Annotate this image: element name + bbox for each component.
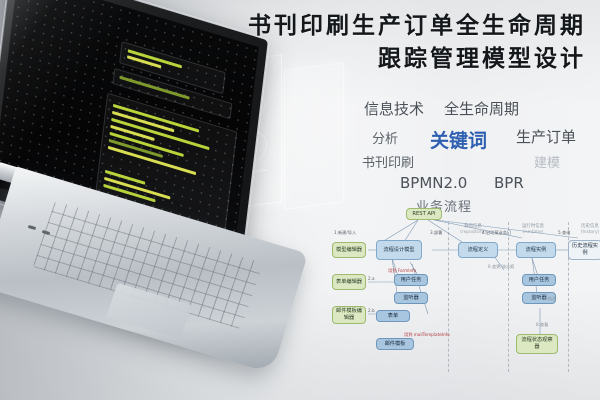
page-title: 书刊印刷生产订单全生命周期 跟踪管理模型设计 <box>248 10 586 75</box>
cloud-term-bpmn: BPMN2.0 <box>400 174 467 192</box>
edge-label-6: 6.变更/流水痕 <box>488 264 514 270</box>
edge-label-5: 5.查询 <box>558 230 570 236</box>
node-history-process-instance[interactable]: 历史流程实例 <box>568 240 600 260</box>
edge-label-3: 3.部署 <box>430 230 442 236</box>
node-form-editor[interactable]: 表单编辑器 <box>332 274 366 290</box>
node-mail-template-editor[interactable]: 邮件模板编辑器 <box>332 306 366 324</box>
node-rest-api[interactable]: REST API <box>406 208 442 220</box>
cloud-term-xinxijishu: 信息技术 <box>364 98 424 119</box>
cloud-term-keyword: 关键词 <box>430 126 487 153</box>
node-user-task-runtime[interactable]: 用户任务 <box>522 274 556 286</box>
bpm-architecture-diagram: 业务流程 静态信息 (repository) 运行时信息 (runtime) 历… <box>332 196 600 376</box>
edge-label-8: 8.查看 <box>536 322 548 328</box>
node-process-design-model[interactable]: 流程设计模型 <box>376 240 422 260</box>
cloud-term-fenxi: 分析 <box>372 128 398 147</box>
diagram-connectors <box>332 196 600 376</box>
edge-label-2a: 2.a <box>368 276 375 281</box>
edge-label-4: 4.启动某业务门 <box>482 230 511 236</box>
title-line-1: 书刊印刷生产订单全生命周期 <box>248 10 586 43</box>
cloud-term-quanshengmingzhouqi: 全生命周期 <box>444 98 519 119</box>
cloud-term-jianmo: 建模 <box>534 152 560 171</box>
keyword-cloud: 信息技术 全生命周期 分析 关键词 生产订单 书刊印刷 建模 BPMN2.0 B… <box>362 96 600 208</box>
cloud-term-shengchandingdan: 生产订单 <box>516 126 576 147</box>
node-process-state-observer[interactable]: 流程状态观察器 <box>516 334 558 354</box>
edge-label-1: 1.新建/导入 <box>334 230 356 236</box>
node-mail-template[interactable]: 邮件模板 <box>376 338 414 350</box>
node-process-instance[interactable]: 流程实例 <box>516 242 556 258</box>
node-model-editor[interactable]: 模型编辑器 <box>332 242 366 258</box>
edge-label-7: 7.轨迹 <box>544 296 556 302</box>
node-listener-design[interactable]: 监听器 <box>394 292 428 304</box>
node-form[interactable]: 表单 <box>376 310 410 322</box>
poster-canvas: 书刊印刷生产订单全生命周期 跟踪管理模型设计 信息技术 全生命周期 分析 关键词… <box>0 0 600 400</box>
cloud-term-bpr: BPR <box>494 174 524 192</box>
edge-label-2b: 2.b <box>368 308 375 313</box>
edge-label-forminfo: 用到 FormInfo <box>388 268 416 274</box>
cloud-term-shukanyinshua: 书刊印刷 <box>362 152 414 171</box>
node-process-definition[interactable]: 流程定义 <box>458 242 498 258</box>
title-line-2: 跟踪管理模型设计 <box>248 43 586 76</box>
edge-label-mailtemplateinfo: 用到 mailTemplateInfo <box>404 332 450 338</box>
